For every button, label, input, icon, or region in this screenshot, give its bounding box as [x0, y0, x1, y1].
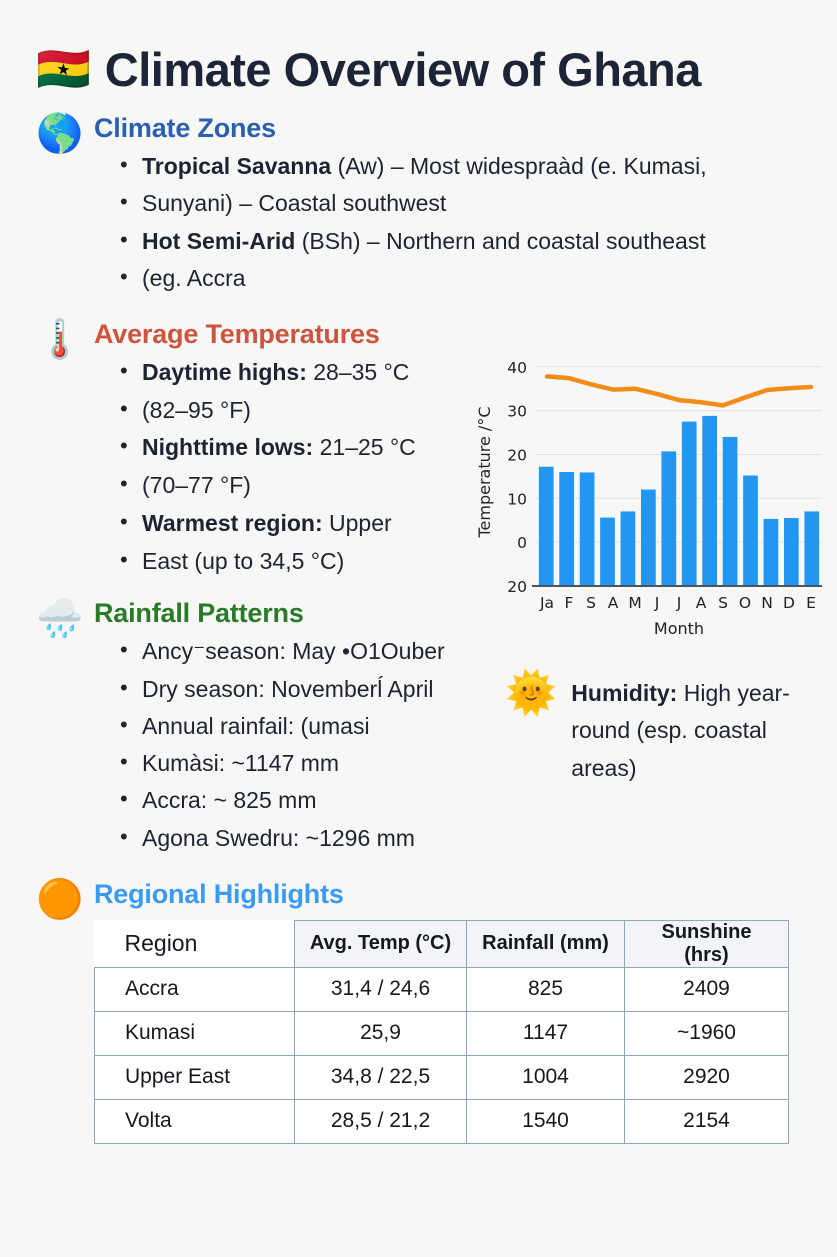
section-regional-highlights: 🟠 Regional Highlights Region Avg. Temp (…: [0, 879, 837, 1144]
chart-bar: [539, 467, 554, 586]
bullet-lead: Nighttime lows:: [142, 434, 313, 460]
list-item: Ancy⁻season: May •O1Ouber: [120, 633, 494, 670]
temperatures-list: Daytime highs: 28–35 °C (82–95 °F) Night…: [94, 354, 474, 580]
column-header-region: Region: [95, 920, 295, 967]
bullet-lead: Warmest region:: [142, 510, 323, 536]
bullet-rest: Agona Swedru: ~1296 mm: [142, 825, 415, 851]
section-body: Regional Highlights Region Avg. Temp (°C…: [94, 879, 837, 1144]
list-item: Hot Semi-Arid (BSh) – Northern and coast…: [120, 223, 837, 260]
cell-region: Kumasi: [95, 1011, 295, 1055]
x-tick-label: M: [628, 594, 641, 612]
x-tick-label: Ja: [539, 594, 554, 612]
chart-bar: [641, 490, 656, 586]
list-item: Warmest region: Upper: [120, 505, 474, 543]
bullet-rest: 21–25 °C: [313, 434, 416, 460]
cell-value: 28,5 / 21,2: [295, 1099, 467, 1143]
chart-bars: [539, 416, 819, 586]
y-tick-label: 20: [507, 578, 527, 596]
bullet-rest: (BSh) – Northern and coastal southeast: [295, 228, 705, 254]
list-item: (eg. Accra: [120, 260, 837, 297]
column-header-avg-temp: Avg. Temp (°C): [295, 920, 467, 967]
chart-trend-line: [547, 376, 811, 405]
table-row: Volta28,5 / 21,215402154: [95, 1099, 789, 1143]
list-item: Nighttime lows: 21–25 °C: [120, 429, 474, 467]
cell-value: 2409: [625, 967, 789, 1011]
rain-cloud-icon: 🌧️: [36, 598, 94, 638]
list-item: Kumàsi: ~1147 mm: [120, 745, 494, 782]
cell-region: Accra: [95, 967, 295, 1011]
chart-bar: [580, 472, 595, 586]
poster-canvas: 🇬🇭 Climate Overview of Ghana 🌎 Climate Z…: [0, 0, 837, 1257]
cell-value: 34,8 / 22,5: [295, 1055, 467, 1099]
list-item: Sunyani) – Coastal southwest: [120, 185, 837, 222]
x-tick-label: N: [761, 594, 773, 612]
bullet-rest: Annual rainfail: (umasi: [142, 713, 370, 739]
page-title: Climate Overview of Ghana: [105, 42, 701, 97]
sun-disc-icon: 🟠: [36, 879, 94, 919]
bullet-rest: Ancy⁻season: May •O1Ouber: [142, 638, 445, 664]
bullet-lead: Daytime highs:: [142, 359, 307, 385]
chart-bar: [804, 511, 819, 586]
list-item: Accra: ~ 825 mm: [120, 782, 494, 819]
y-tick-label: 20: [507, 446, 527, 464]
section-body: Climate Zones Tropical Savanna (Aw) – Mo…: [94, 113, 837, 297]
x-tick-label: S: [718, 594, 728, 612]
chart-y-tick-labels: 40302010020: [507, 359, 527, 596]
chart-bar: [723, 437, 738, 586]
x-tick-label: J: [676, 594, 682, 612]
bullet-lead: Hot Semi-Arid: [142, 228, 295, 254]
cell-value: 31,4 / 24,6: [295, 967, 467, 1011]
chart-bar: [559, 472, 574, 586]
humidity-callout: 🌞 Humidity: High year-round (esp. coasta…: [505, 672, 815, 787]
cell-value: 25,9: [295, 1011, 467, 1055]
bullet-rest: (70–77 °F): [142, 472, 251, 498]
thermometer-icon: 🌡️: [36, 319, 94, 359]
x-tick-label: J: [654, 594, 660, 612]
list-item: (82–95 °F): [120, 392, 474, 430]
section-body: Rainfall Patterns Ancy⁻season: May •O1Ou…: [94, 598, 494, 857]
table-row: Upper East34,8 / 22,510042920: [95, 1055, 789, 1099]
list-item: Daytime highs: 28–35 °C: [120, 354, 474, 392]
chart-bar: [600, 518, 615, 586]
list-item: (70–77 °F): [120, 467, 474, 505]
chart-bar: [784, 518, 799, 586]
table-row: Kumasi25,91147~1960: [95, 1011, 789, 1055]
table-row: Accra31,4 / 24,68252409: [95, 967, 789, 1011]
x-tick-label: A: [696, 594, 707, 612]
chart-x-tick-labels: JaFSAMJJASONDE: [539, 594, 816, 612]
table-head: Region Avg. Temp (°C) Rainfall (mm) Suns…: [95, 920, 789, 967]
x-tick-label: E: [806, 594, 816, 612]
bullet-rest: (eg. Accra: [142, 265, 246, 291]
section-heading-regional-highlights: Regional Highlights: [94, 879, 837, 910]
cell-region: Upper East: [95, 1055, 295, 1099]
regional-highlights-table: Region Avg. Temp (°C) Rainfall (mm) Suns…: [94, 920, 789, 1144]
list-item: Agona Swedru: ~1296 mm: [120, 820, 494, 857]
chart-y-axis-label: Temperature /°C: [475, 407, 494, 539]
bullet-rest: (Aw) – Most widespraàd (e. Kumasi,: [331, 153, 706, 179]
cell-value: 2154: [625, 1099, 789, 1143]
bullet-rest: Dry season: Novemberĺ April: [142, 676, 433, 702]
bullet-rest: Sunyani) – Coastal southwest: [142, 190, 446, 216]
cell-value: 2920: [625, 1055, 789, 1099]
cell-region: Volta: [95, 1099, 295, 1143]
list-item: Dry season: Novemberĺ April: [120, 671, 494, 708]
chart-bar: [764, 519, 779, 586]
rainfall-list: Ancy⁻season: May •O1Ouber Dry season: No…: [94, 633, 494, 857]
chart-bar: [743, 476, 758, 586]
bullet-lead: Tropical Savanna: [142, 153, 331, 179]
section-heading-rainfall-patterns: Rainfall Patterns: [94, 598, 494, 629]
cell-value: 825: [467, 967, 625, 1011]
y-tick-label: 10: [507, 490, 527, 508]
bullet-rest: Accra: ~ 825 mm: [142, 787, 316, 813]
bullet-rest: Upper: [323, 510, 392, 536]
sun-icon: 🌞: [505, 672, 557, 714]
list-item: East (up to 34,5 °C): [120, 543, 474, 581]
bullet-rest: East (up to 34,5 °C): [142, 548, 344, 574]
page-title-row: 🇬🇭 Climate Overview of Ghana: [0, 0, 837, 97]
section-heading-average-temperatures: Average Temperatures: [94, 319, 474, 350]
chart-bar: [661, 451, 676, 586]
x-tick-label: O: [739, 594, 751, 612]
humidity-text: Humidity: High year-round (esp. coastal …: [571, 672, 815, 787]
table-header-row: Region Avg. Temp (°C) Rainfall (mm) Suns…: [95, 920, 789, 967]
cell-value: 1004: [467, 1055, 625, 1099]
list-item: Annual rainfail: (umasi: [120, 708, 494, 745]
climate-zones-list: Tropical Savanna (Aw) – Most widespraàd …: [94, 148, 837, 297]
section-heading-climate-zones: Climate Zones: [94, 113, 837, 144]
column-header-sunshine: Sunshine (hrs): [625, 920, 789, 967]
ghana-flag-icon: 🇬🇭: [36, 48, 91, 92]
x-tick-label: F: [565, 594, 574, 612]
cell-value: 1540: [467, 1099, 625, 1143]
x-tick-label: A: [608, 594, 619, 612]
column-header-rainfall: Rainfall (mm): [467, 920, 625, 967]
y-tick-label: 0: [517, 534, 527, 552]
chart-bar: [621, 511, 636, 586]
table-body: Accra31,4 / 24,68252409Kumasi25,91147~19…: [95, 967, 789, 1143]
x-tick-label: D: [783, 594, 795, 612]
x-tick-label: S: [586, 594, 596, 612]
chart-x-axis-label: Month: [654, 619, 704, 638]
globe-icon: 🌎: [36, 113, 94, 153]
y-tick-label: 40: [507, 359, 527, 377]
bullet-rest: 28–35 °C: [307, 359, 410, 385]
humidity-label: Humidity:: [571, 680, 677, 706]
temperature-chart: 40302010020 JaFSAMJJASONDE Temperature /…: [470, 344, 830, 644]
section-body: Average Temperatures Daytime highs: 28–3…: [94, 319, 474, 580]
cell-value: ~1960: [625, 1011, 789, 1055]
y-tick-label: 30: [507, 403, 527, 421]
section-climate-zones: 🌎 Climate Zones Tropical Savanna (Aw) – …: [0, 113, 837, 297]
chart-svg: 40302010020 JaFSAMJJASONDE Temperature /…: [470, 344, 830, 644]
list-item: Tropical Savanna (Aw) – Most widespraàd …: [120, 148, 837, 185]
cell-value: 1147: [467, 1011, 625, 1055]
chart-bar: [682, 422, 697, 586]
chart-bar: [702, 416, 717, 586]
bullet-rest: (82–95 °F): [142, 397, 251, 423]
bullet-rest: Kumàsi: ~1147 mm: [142, 750, 339, 776]
